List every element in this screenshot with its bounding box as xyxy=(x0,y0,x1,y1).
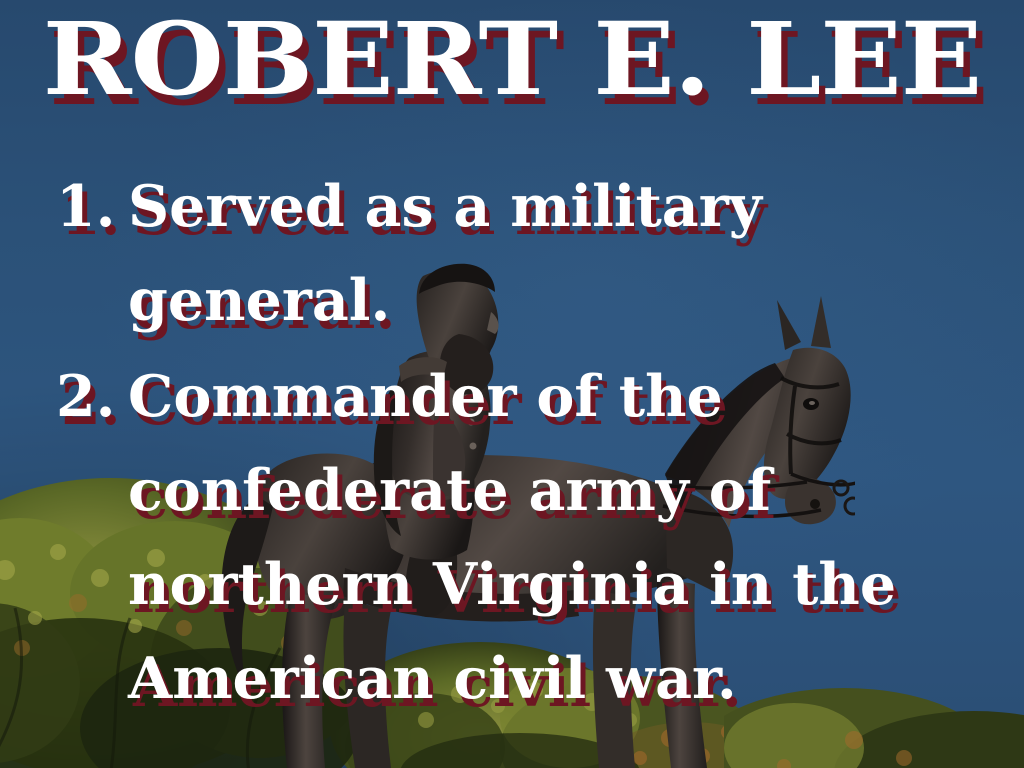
list-item-marker: 1. xyxy=(56,160,120,254)
page-title: ROBERT E. LEE xyxy=(0,8,1024,110)
list-item: 1. Served as a military general. xyxy=(52,160,952,348)
bullet-list: 1. Served as a military general. 2. Comm… xyxy=(52,160,952,728)
list-item: 2. Commander of the confederate army of … xyxy=(52,350,952,726)
slide-canvas: ROBERT E. LEE 1. Served as a military ge… xyxy=(0,0,1024,768)
list-item-marker: 2. xyxy=(56,350,120,444)
list-item-text: Commander of the confederate army of nor… xyxy=(128,350,952,726)
slide-text-layer: ROBERT E. LEE 1. Served as a military ge… xyxy=(0,0,1024,768)
list-item-text: Served as a military general. xyxy=(128,160,952,348)
